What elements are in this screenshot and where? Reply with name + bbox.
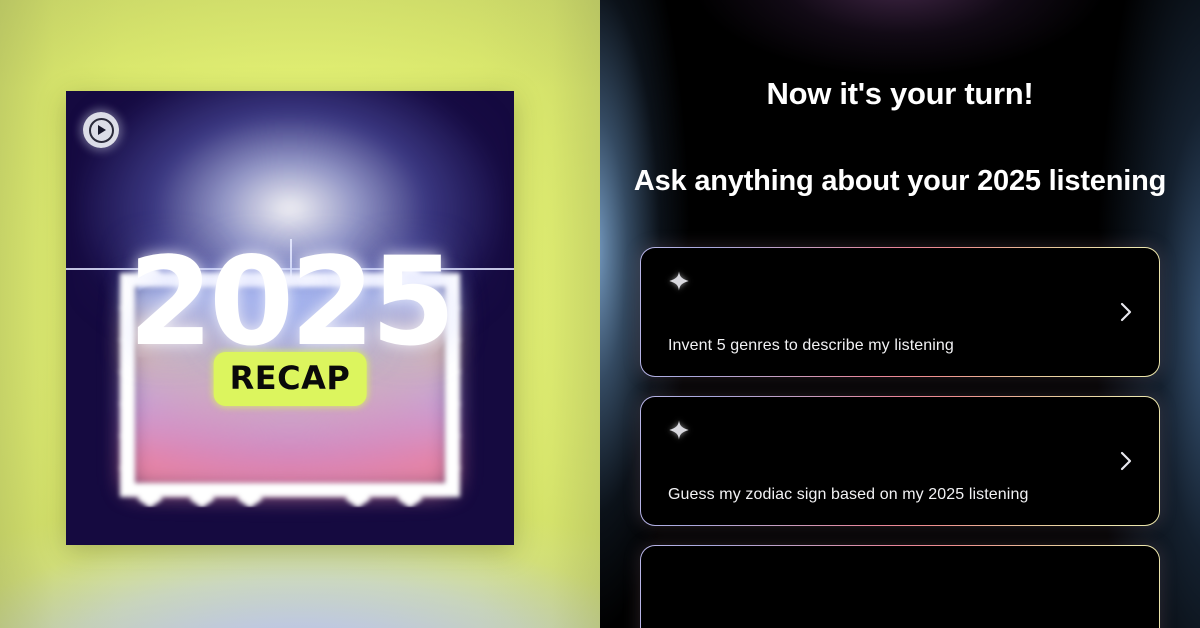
prompt-card[interactable]: Guess my zodiac sign based on my 2025 li… [640,396,1160,526]
prompt-card-text: Invent 5 genres to describe my listening [668,336,1089,355]
right-panel-content: Now it's your turn! Ask anything about y… [600,76,1200,628]
prompt-card-list: Invent 5 genres to describe my listening… [600,247,1200,628]
play-triangle [98,125,106,135]
artwork-year-label: 2025 [66,241,514,363]
chevron-right-icon[interactable] [1113,449,1137,473]
play-circle-icon[interactable] [83,112,119,148]
prompt-card[interactable]: Invent 5 genres to describe my listening [640,247,1160,377]
sparkle-icon [668,419,690,441]
chevron-right-icon[interactable] [1113,300,1137,324]
page-subtitle: Ask anything about your 2025 listening [600,162,1200,201]
album-artwork[interactable]: 2025 [66,91,514,545]
right-panel-ai-prompts: Now it's your turn! Ask anything about y… [600,0,1200,628]
screenshot-root: 2025 [0,0,1200,628]
sparkle-icon [668,270,690,292]
play-icon-ring [89,118,114,143]
artwork-recap-badge: RECAP [217,355,364,403]
prompt-card-partial[interactable] [640,545,1160,628]
page-title: Now it's your turn! [600,76,1200,112]
left-panel-recap-artwork: 2025 [0,0,600,628]
prompt-card-text: Guess my zodiac sign based on my 2025 li… [668,485,1089,504]
